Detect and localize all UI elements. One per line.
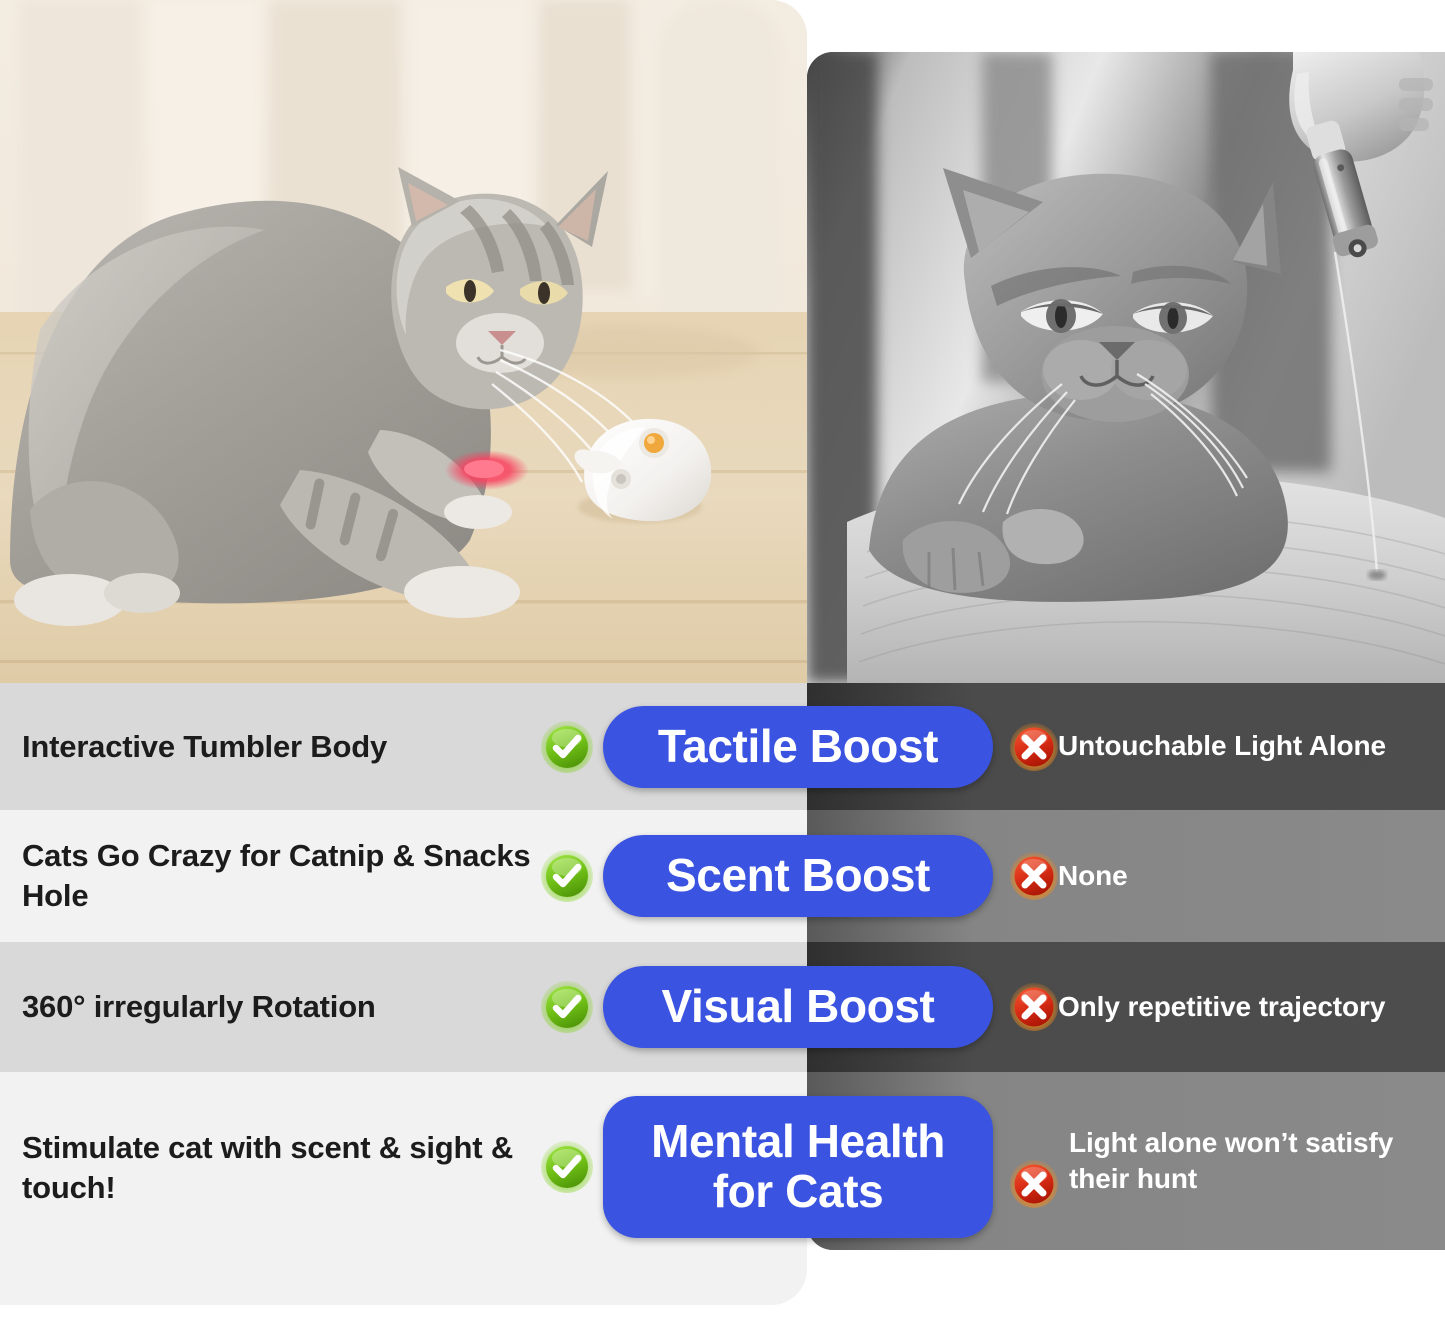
check-icon[interactable]	[540, 980, 594, 1034]
cross-icon[interactable]	[1009, 982, 1059, 1032]
benefit-badge[interactable]: Mental Health for Cats	[603, 1096, 993, 1238]
benefit-badge-line1: Mental Health	[651, 1117, 945, 1167]
check-icon[interactable]	[540, 720, 594, 774]
cross-icon[interactable]	[1009, 851, 1059, 901]
right-competitor-panel: Untouchable Light Alone None Only repeti…	[807, 52, 1445, 1250]
feature-label: Interactive Tumbler Body	[0, 727, 397, 767]
benefit-badge[interactable]: Visual Boost	[603, 966, 993, 1048]
feature-label: 360° irregularly Rotation	[0, 987, 386, 1027]
drawback-label: None	[1058, 858, 1132, 894]
drawback-label: Untouchable Light Alone	[1058, 728, 1390, 764]
check-icon[interactable]	[540, 1140, 594, 1194]
benefit-badge[interactable]: Tactile Boost	[603, 706, 993, 788]
cross-icon[interactable]	[1009, 1159, 1059, 1209]
cross-icon[interactable]	[1009, 722, 1059, 772]
feature-label: Stimulate cat with scent & sight & touch…	[0, 1128, 552, 1207]
drawback-label: Light alone won’t satisfy their hunt	[1069, 1125, 1441, 1198]
feature-label: Cats Go Crazy for Catnip & Snacks Hole	[0, 836, 552, 915]
product-photo-cat-with-tumbler-toy	[0, 0, 807, 683]
benefit-badge-line2: for Cats	[713, 1167, 884, 1217]
drawback-label: Only repetitive trajectory	[1058, 989, 1389, 1025]
competitor-photo-cat-with-laser-pointer	[807, 52, 1445, 683]
check-icon[interactable]	[540, 849, 594, 903]
benefit-badge[interactable]: Scent Boost	[603, 835, 993, 917]
